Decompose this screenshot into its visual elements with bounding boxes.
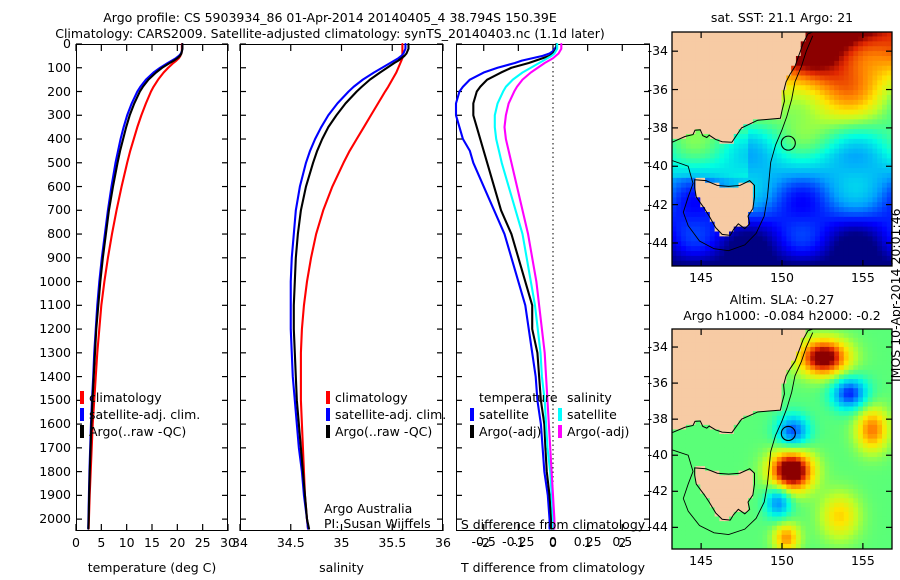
legend-header-temperature: temperature [479, 390, 558, 405]
map-x-tick-155: 155 [833, 553, 893, 568]
map-y-tick--44: -44 [608, 235, 668, 250]
legend-swatch-climatology-sal [326, 391, 330, 404]
legend-item-argo-raw-sal: Argo(..raw -QC) [326, 424, 446, 439]
credit-line-2: PI: Susan Wijffels [324, 516, 431, 531]
map-y-tick--38: -38 [608, 120, 668, 135]
legend-swatch-sal-argo [558, 425, 562, 438]
map-y-tick--40: -40 [608, 447, 668, 462]
temperature-panel-frame [76, 44, 228, 531]
map-y-tick--40: -40 [608, 158, 668, 173]
y-tick-2000: 2000 [11, 511, 71, 526]
legend-swatch-climatology [80, 391, 84, 404]
s-tick-0.5: 0.5 [592, 534, 652, 549]
map-y-tick--36: -36 [608, 375, 668, 390]
legend-item-argo-raw: Argo(..raw -QC) [80, 424, 200, 439]
sla-map-canvas [672, 329, 892, 549]
legend-label-argo-raw-sal: Argo(..raw -QC) [335, 424, 432, 439]
temperature-x-axis-label: temperature (deg C) [76, 560, 228, 575]
map-x-tick-145: 145 [671, 553, 731, 568]
sst-map-title: sat. SST: 21.1 Argo: 21 [672, 10, 892, 25]
legend-item-temp-satellite: satellite [470, 407, 558, 422]
y-tick-800: 800 [11, 226, 71, 241]
y-tick-1300: 1300 [11, 345, 71, 360]
legend-item-climatology-sal: climatology [326, 390, 446, 405]
y-tick-1600: 1600 [11, 416, 71, 431]
legend-swatch-temp-satellite [470, 408, 474, 421]
imos-timestamp: IMOS 10-Apr-2014 20:01:46 [888, 382, 900, 397]
legend-label-sal-argo: Argo(-adj) [567, 424, 629, 439]
figure-title-line1: Argo profile: CS 5903934_86 01-Apr-2014 … [0, 10, 660, 25]
y-tick-300: 300 [11, 107, 71, 122]
map-x-tick-145: 145 [671, 270, 731, 285]
legend-label-temp-argo: Argo(-adj) [479, 424, 541, 439]
map-y-tick--36: -36 [608, 82, 668, 97]
map-y-tick--42: -42 [608, 483, 668, 498]
legend-label-climatology: climatology [89, 390, 162, 405]
y-tick-100: 100 [11, 60, 71, 75]
legend-swatch-argo-raw [80, 425, 84, 438]
imos-timestamp-text: IMOS 10-Apr-2014 20:01:46 [888, 208, 900, 382]
legend-label-argo-raw: Argo(..raw -QC) [89, 424, 186, 439]
y-tick-0: 0 [11, 36, 71, 51]
y-tick-700: 700 [11, 202, 71, 217]
y-tick-200: 200 [11, 84, 71, 99]
sst-map-canvas [672, 32, 892, 266]
map-y-tick--38: -38 [608, 411, 668, 426]
figure-title-line2: Climatology: CARS2009. Satellite-adjuste… [0, 26, 660, 41]
y-tick-500: 500 [11, 155, 71, 170]
y-tick-1200: 1200 [11, 321, 71, 336]
salinity-legend: climatology satellite-adj. clim. Argo(..… [326, 390, 446, 439]
y-tick-1000: 1000 [11, 274, 71, 289]
temperature-legend: climatology satellite-adj. clim. Argo(..… [80, 390, 200, 439]
y-tick-1500: 1500 [11, 392, 71, 407]
y-tick-1900: 1900 [11, 487, 71, 502]
legend-swatch-argo-raw-sal [326, 425, 330, 438]
legend-swatch-satellite-adj-sal [326, 408, 330, 421]
legend-item-satellite-adj: satellite-adj. clim. [80, 407, 200, 422]
y-tick-1100: 1100 [11, 297, 71, 312]
sla-map-title-line2: Argo h1000: -0.084 h2000: -0.2 [662, 308, 900, 323]
legend-swatch-temp-argo [470, 425, 474, 438]
y-tick-900: 900 [11, 250, 71, 265]
legend-label-temp-satellite: satellite [479, 407, 529, 422]
legend-label-climatology-sal: climatology [335, 390, 408, 405]
legend-item-satellite-adj-sal: satellite-adj. clim. [326, 407, 446, 422]
map-y-tick--44: -44 [608, 519, 668, 534]
salinity-x-axis-label: salinity [240, 560, 443, 575]
legend-swatch-sal-satellite [558, 408, 562, 421]
y-tick-1800: 1800 [11, 464, 71, 479]
legend-item-temp-argo: Argo(-adj) [470, 424, 558, 439]
difference-t-axis-label: T difference from climatology [452, 560, 654, 575]
legend-item-sal-argo: Argo(-adj) [558, 424, 650, 439]
credit-line-1: Argo Australia [324, 501, 412, 516]
map-x-tick-150: 150 [752, 553, 812, 568]
y-tick-400: 400 [11, 131, 71, 146]
map-y-tick--42: -42 [608, 197, 668, 212]
y-tick-1400: 1400 [11, 369, 71, 384]
legend-item-climatology: climatology [80, 390, 200, 405]
legend-swatch-satellite-adj [80, 408, 84, 421]
legend-header-salinity: salinity [567, 390, 650, 405]
legend-label-satellite-adj-sal: satellite-adj. clim. [335, 407, 446, 422]
y-tick-600: 600 [11, 179, 71, 194]
map-y-tick--34: -34 [608, 339, 668, 354]
map-x-tick-155: 155 [833, 270, 893, 285]
y-tick-1700: 1700 [11, 440, 71, 455]
sla-map-title-line1: Altim. SLA: -0.27 [672, 292, 892, 307]
map-x-tick-150: 150 [752, 270, 812, 285]
legend-label-satellite-adj: satellite-adj. clim. [89, 407, 200, 422]
map-y-tick--34: -34 [608, 43, 668, 58]
salinity-panel-frame [240, 44, 443, 531]
